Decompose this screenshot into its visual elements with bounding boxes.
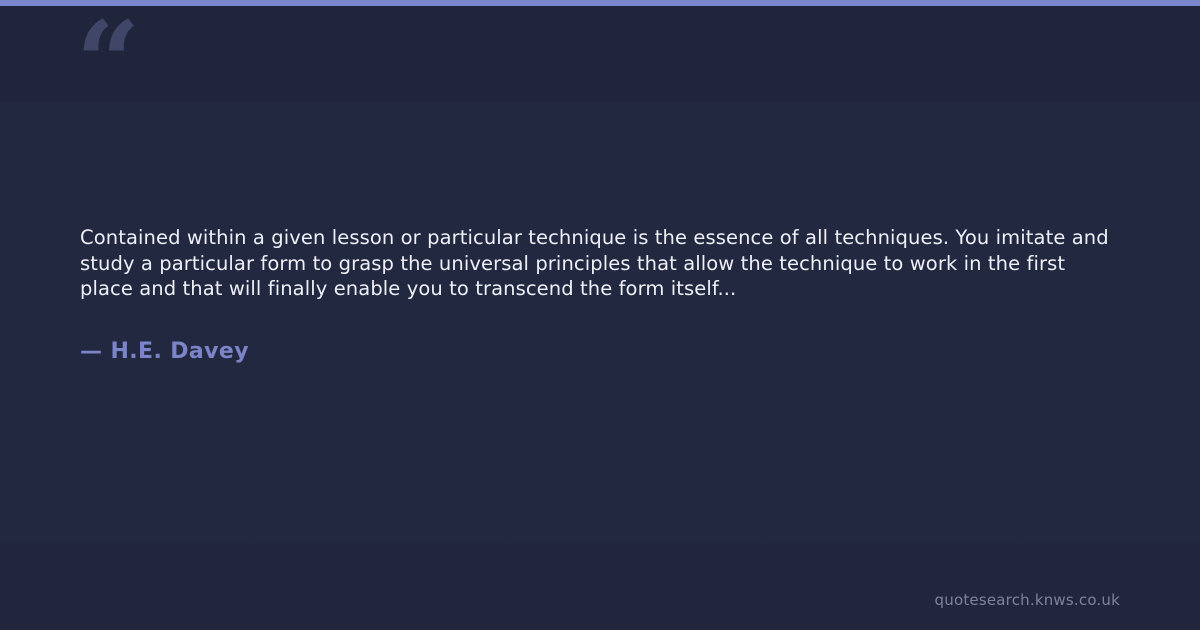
source-site-label: quotesearch.knws.co.uk	[935, 590, 1120, 610]
quote-card: “ Contained within a given lesson or par…	[0, 0, 1200, 630]
open-quotation-mark-icon: “	[76, 8, 138, 120]
quote-text: Contained within a given lesson or parti…	[80, 225, 1110, 302]
quote-body: Contained within a given lesson or parti…	[80, 225, 1110, 366]
top-accent-bar	[0, 0, 1200, 6]
quote-attribution: — H.E. Davey	[80, 302, 1110, 366]
